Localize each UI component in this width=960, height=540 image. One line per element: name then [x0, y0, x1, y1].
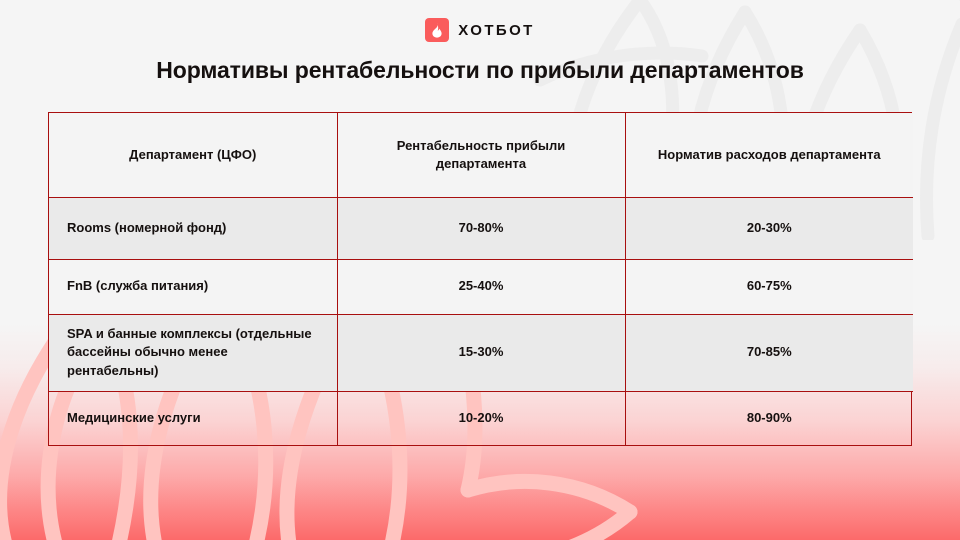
table-row: Медицинские услуги 10-20% 80-90%	[49, 391, 913, 445]
norms-table: Департамент (ЦФО) Рентабельность прибыли…	[49, 113, 913, 445]
table-row: Rooms (номерной фонд) 70-80% 20-30%	[49, 197, 913, 259]
cell-department: FnB (служба питания)	[49, 259, 337, 314]
cell-cost-norm: 60-75%	[625, 259, 913, 314]
cell-department: Rooms (номерной фонд)	[49, 197, 337, 259]
cell-department: SPA и банные комплексы (отдельные бассей…	[49, 314, 337, 391]
cell-cost-norm: 20-30%	[625, 197, 913, 259]
cell-profit-margin: 15-30%	[337, 314, 625, 391]
column-header-department: Департамент (ЦФО)	[49, 113, 337, 197]
brand-logo: ХОТБОТ	[0, 18, 960, 42]
column-header-profit-margin: Рентабельность прибыли департамента	[337, 113, 625, 197]
brand-name: ХОТБОТ	[458, 22, 534, 39]
cell-cost-norm: 70-85%	[625, 314, 913, 391]
cell-profit-margin: 10-20%	[337, 391, 625, 445]
cell-cost-norm: 80-90%	[625, 391, 913, 445]
norms-table-container: Департамент (ЦФО) Рентабельность прибыли…	[48, 112, 912, 446]
flame-icon	[425, 18, 449, 42]
page-title: Нормативы рентабельности по прибыли депа…	[0, 57, 960, 84]
cell-department: Медицинские услуги	[49, 391, 337, 445]
column-header-cost-norm: Норматив расходов департамента	[625, 113, 913, 197]
cell-profit-margin: 70-80%	[337, 197, 625, 259]
table-header-row: Департамент (ЦФО) Рентабельность прибыли…	[49, 113, 913, 197]
slide: ХОТБОТ Нормативы рентабельности по прибы…	[0, 0, 960, 540]
table-row: FnB (служба питания) 25-40% 60-75%	[49, 259, 913, 314]
table-row: SPA и банные комплексы (отдельные бассей…	[49, 314, 913, 391]
cell-profit-margin: 25-40%	[337, 259, 625, 314]
